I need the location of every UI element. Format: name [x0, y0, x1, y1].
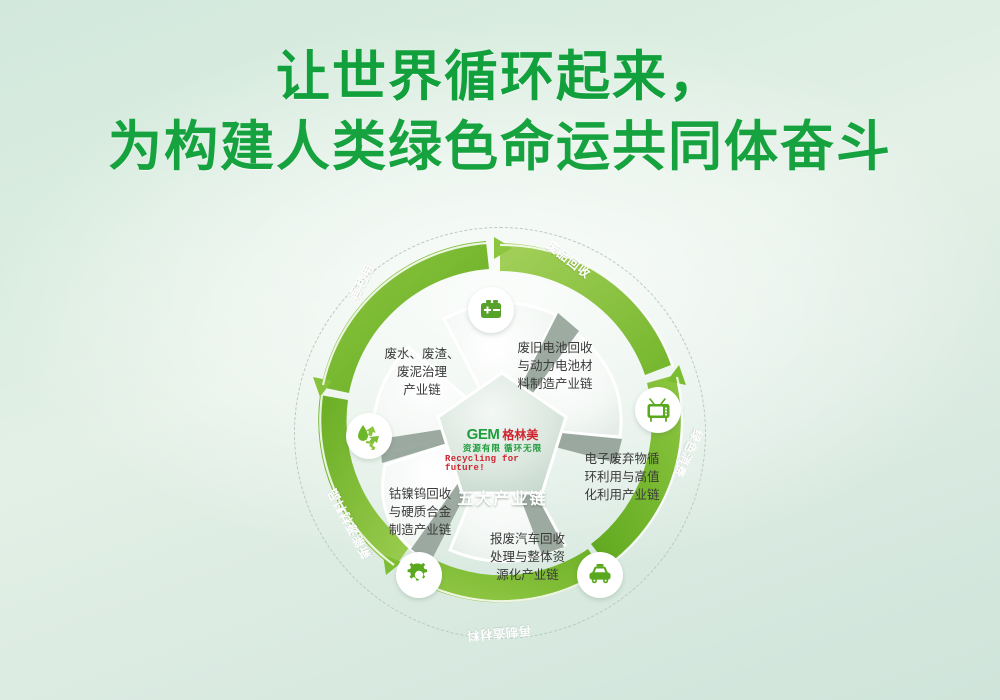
chain-text-battery: 废旧电池回收 与动力电池材 料制造产业链 — [495, 339, 615, 393]
tv-icon-bubble — [635, 387, 681, 433]
chain-text-vehicle: 报废汽车回收 处理与整体资 源化产业链 — [470, 530, 585, 584]
logo-chinese-name: 格林美 — [502, 429, 538, 441]
page-title-line-2: 为构建人类绿色命运共同体奋斗 — [0, 112, 1000, 182]
tv-icon — [645, 397, 672, 424]
poster-canvas: 让世界循环起来， 为构建人类绿色命运共同体奋斗 — [0, 0, 1000, 700]
water-recycle-icon — [355, 422, 383, 450]
chain-text-electronics: 电子废弃物循 环利用与高值 化利用产业链 — [567, 450, 677, 504]
car-icon — [586, 561, 614, 589]
industry-chain-wheel: 废品回收 绿色消费 再制造材料 新能源材料品 再利用 废旧电池回收 与动力电池材… — [290, 215, 710, 655]
logo-gem-text: GEM — [467, 427, 500, 442]
water-recycle-icon-bubble — [346, 413, 392, 459]
page-title: 让世界循环起来， 为构建人类绿色命运共同体奋斗 — [0, 42, 1000, 182]
center-title: 五大产业链 — [445, 485, 560, 509]
gear-icon — [406, 562, 432, 588]
car-icon-bubble — [577, 552, 623, 598]
battery-icon-bubble — [468, 287, 514, 333]
page-title-line-1: 让世界循环起来， — [0, 42, 1000, 112]
battery-icon — [478, 297, 504, 323]
logo-slogan-en: Recycling for future! — [445, 455, 560, 473]
logo-slogan-cn: 资源有限 循环无限 — [463, 444, 542, 453]
chain-text-wastewater: 废水、废渣、 废泥治理 产业链 — [362, 345, 482, 399]
logo-wordmark-row: GEM 格林美 — [467, 427, 539, 442]
gear-icon-bubble — [396, 552, 442, 598]
